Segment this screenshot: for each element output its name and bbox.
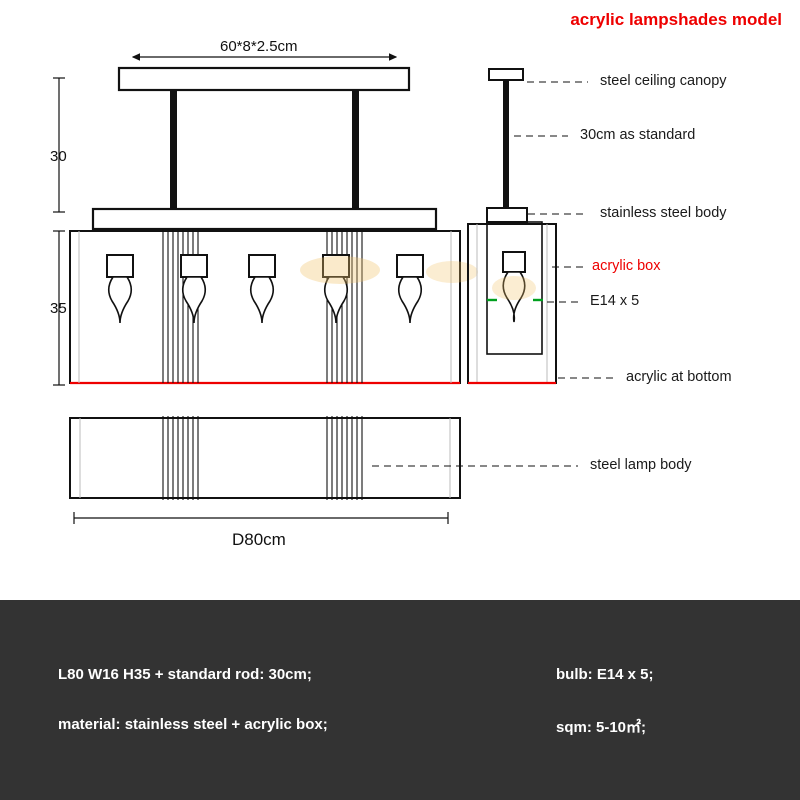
dimension-width: D80cm [232,530,286,550]
callout-stainless-steel-body: stainless steel body [600,205,727,221]
callout-steel-lamp-body: steel lamp body [590,457,692,473]
callout-steel-ceiling-canopy: steel ceiling canopy [600,73,727,89]
spec-band: L80 W16 H35 + standard rod: 30cm; materi… [0,600,800,800]
callout-bulb-e14: E14 x 5 [590,293,639,309]
dimension-body-height: 35 [50,300,67,317]
spec-bulb: bulb: E14 x 5; [556,666,654,683]
spec-sqm: sqm: 5-10㎡; [556,716,646,737]
callout-acrylic-box: acrylic box [592,258,661,274]
callout-rod-standard: 30cm as standard [580,127,695,143]
dimension-rod-height: 30 [50,148,67,165]
spec-dimensions: L80 W16 H35 + standard rod: 30cm; [58,666,312,683]
dimension-top-bar: 60*8*2.5cm [220,38,298,55]
spec-material: material: stainless steel + acrylic box; [58,716,328,733]
diagram-area: acrylic lampshades model [0,0,800,600]
callout-acrylic-at-bottom: acrylic at bottom [626,369,732,385]
diagram-svg [0,0,800,600]
